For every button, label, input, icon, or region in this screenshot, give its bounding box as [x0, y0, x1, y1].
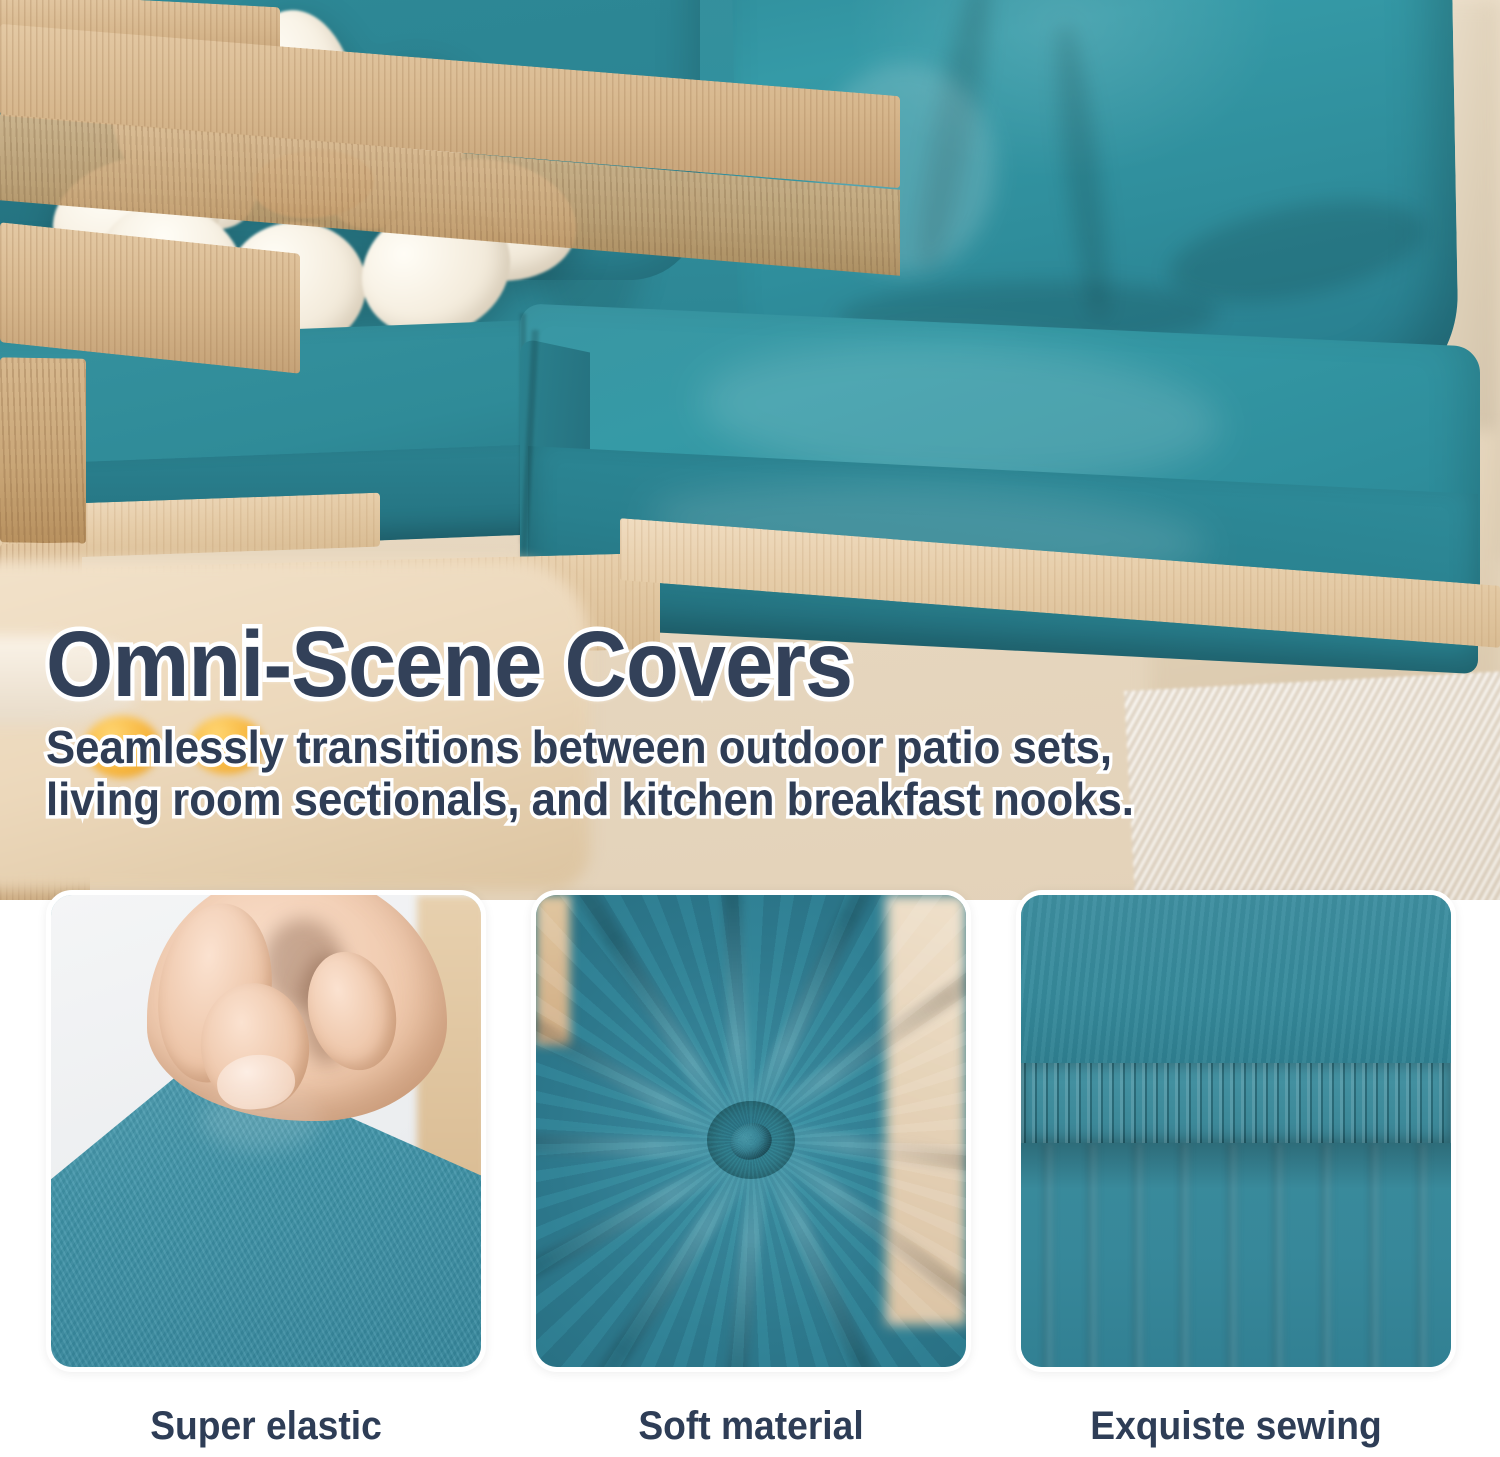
page-title: Omni-Scene Covers	[46, 616, 1255, 712]
fabric-texture-overlay	[536, 895, 966, 1367]
pallet-leg-right	[0, 357, 86, 544]
feature-thumb-soft-material[interactable]	[531, 890, 971, 1372]
fabric-peak-highlight	[201, 1091, 321, 1151]
feature-caption-soft-material: Soft material	[546, 1404, 955, 1449]
hero-copy-block: Omni-Scene Covers Seamlessly transitions…	[46, 616, 1346, 825]
hero-subtitle: Seamlessly transitions between outdoor p…	[46, 721, 1253, 825]
elastic-seam-band	[1021, 1063, 1451, 1145]
feature-caption-super-elastic: Super elastic	[61, 1404, 470, 1449]
gathered-skirt	[1021, 1143, 1451, 1372]
feature-panel-row	[0, 888, 1500, 1457]
elastic-ribbing	[1021, 1063, 1451, 1145]
product-feature-graphic: Omni-Scene Covers Seamlessly transitions…	[0, 0, 1500, 1457]
feature-caption-exquiste-sewing: Exquiste sewing	[1031, 1404, 1440, 1449]
skirt-top-shadow	[1021, 1143, 1451, 1189]
fabric-upper-face	[1021, 895, 1451, 1065]
hero-scene: Omni-Scene Covers Seamlessly transitions…	[0, 0, 1500, 900]
feature-thumb-super-elastic[interactable]	[46, 890, 486, 1372]
hero-subtitle-line-2: living room sectionals, and kitchen brea…	[46, 773, 1253, 825]
feature-thumb-exquiste-sewing[interactable]	[1016, 890, 1456, 1372]
hero-subtitle-line-1: Seamlessly transitions between outdoor p…	[46, 721, 1253, 773]
